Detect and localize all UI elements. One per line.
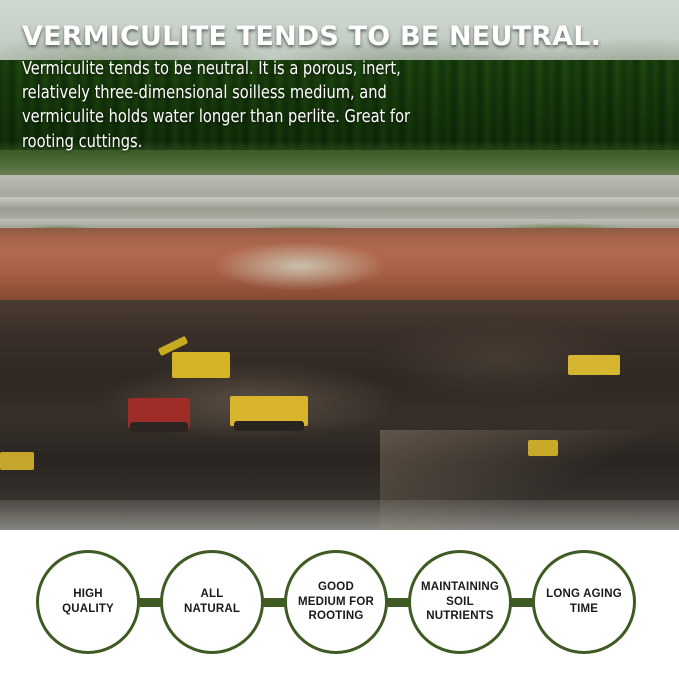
- edge-yellow-machine-icon: [0, 452, 34, 470]
- red-haul-truck-icon: [128, 398, 190, 428]
- feature-badge-long-aging-time: LONG AGING TIME: [532, 550, 636, 654]
- feature-badge-good-medium-for-rooting: GOOD MEDIUM FOR ROOTING: [284, 550, 388, 654]
- small-yellow-machine-icon: [528, 440, 558, 456]
- yellow-excavator-icon: [172, 352, 230, 378]
- feature-badge-label: GOOD MEDIUM FOR ROOTING: [287, 580, 385, 624]
- feature-badge-label: ALL NATURAL: [163, 587, 261, 616]
- feature-badge-row: HIGH QUALITY ALL NATURAL GOOD MEDIUM FOR…: [0, 530, 679, 679]
- feature-badge-maintaining-soil-nutrients: MAINTAINING SOIL NUTRIENTS: [408, 550, 512, 654]
- feature-badge-high-quality: HIGH QUALITY: [36, 550, 140, 654]
- product-infographic-poster: VERMICULITE TENDS TO BE NEUTRAL. Vermicu…: [0, 0, 679, 679]
- yellow-bulldozer-icon: [568, 355, 620, 375]
- pit-highlight-right: [330, 300, 679, 420]
- description-text: Vermiculite tends to be neutral. It is a…: [22, 57, 459, 154]
- pit-foreground-grey: [0, 500, 679, 530]
- yellow-haul-truck-icon: [230, 396, 308, 426]
- feature-badge-label: HIGH QUALITY: [39, 587, 137, 616]
- feature-strip: HIGH QUALITY ALL NATURAL GOOD MEDIUM FOR…: [0, 530, 679, 679]
- red-clay-terrace: [0, 228, 679, 310]
- page-title: VERMICULITE TENDS TO BE NEUTRAL.: [22, 22, 657, 51]
- feature-badge-label: MAINTAINING SOIL NUTRIENTS: [411, 580, 509, 624]
- feature-badge-all-natural: ALL NATURAL: [160, 550, 264, 654]
- feature-badge-label: LONG AGING TIME: [535, 587, 633, 616]
- headline-block: VERMICULITE TENDS TO BE NEUTRAL. Vermicu…: [0, 22, 679, 154]
